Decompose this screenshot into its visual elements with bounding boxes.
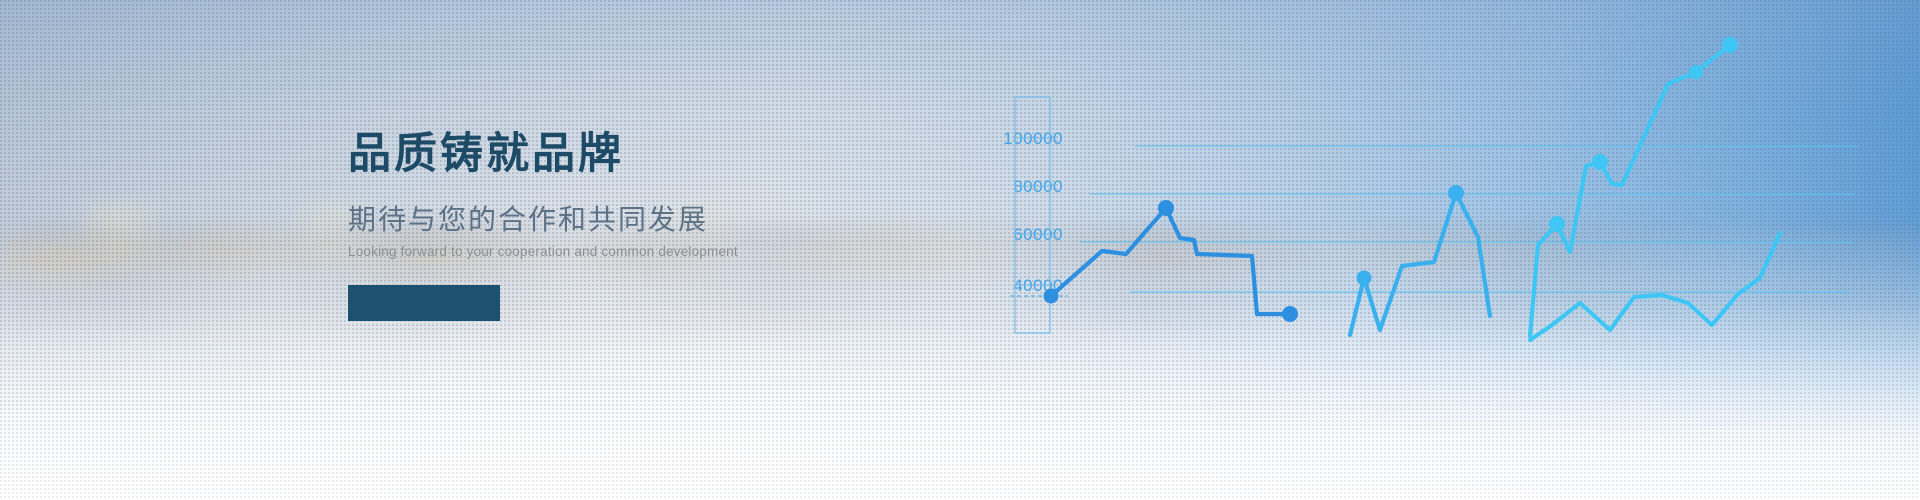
data-point-marker xyxy=(1722,37,1738,53)
data-point-marker xyxy=(1282,306,1298,322)
data-point-marker xyxy=(1549,216,1565,232)
banner-copy: 品质铸就品牌 期待与您的合作和共同发展 Looking forward to y… xyxy=(348,128,868,321)
data-point-marker xyxy=(1158,200,1174,216)
series-2-line xyxy=(1350,185,1490,335)
line-chart: 100000 80000 60000 40000 xyxy=(950,0,1920,500)
data-point-marker xyxy=(1448,185,1464,201)
data-point-marker xyxy=(1357,271,1372,286)
gridlines xyxy=(1010,146,1858,296)
series-3-line xyxy=(1530,37,1738,336)
chart-svg: 100000 80000 60000 40000 xyxy=(950,0,1920,500)
banner-subtitle-english: Looking forward to your cooperation and … xyxy=(348,244,868,259)
banner-cta-button[interactable] xyxy=(348,285,500,321)
series-1-line xyxy=(1044,200,1299,322)
banner-subtitle: 期待与您的合作和共同发展 xyxy=(348,202,868,238)
data-point-marker xyxy=(1044,289,1059,304)
data-point-marker xyxy=(1689,65,1703,79)
data-point-marker xyxy=(1592,154,1608,170)
hero-banner: 品质铸就品牌 期待与您的合作和共同发展 Looking forward to y… xyxy=(0,0,1920,500)
y-axis-tick-labels: 100000 80000 60000 40000 xyxy=(1003,129,1063,295)
banner-title: 品质铸就品牌 xyxy=(348,128,868,182)
